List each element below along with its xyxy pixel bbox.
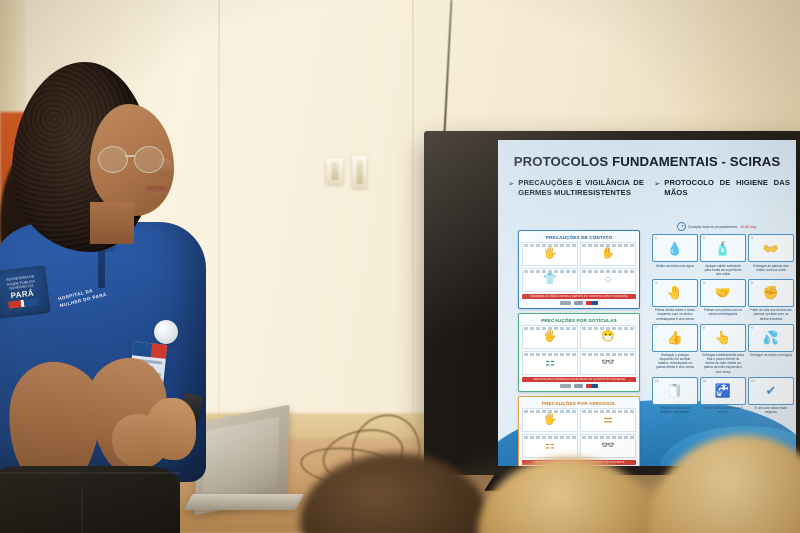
hand-hygiene-step: 8👆Esfregue rotativamente para trás e par… [701,324,745,374]
sespa-logo [574,384,583,388]
step-caption: Palma direita sobre o dorso esquerdo com… [653,308,697,320]
neck [90,202,134,244]
rub-palms-icon: 3👐 [748,234,794,262]
slide-bullet-item: ➢ PRECAUÇÕES E VIGILÂNCIA DE GERMES MULT… [508,178,644,198]
palm-over-dorsum-icon: 4🤚 [652,279,698,307]
back-of-fingers-icon: 6✊ [748,279,794,307]
poster-aerossol: PRECAUÇÕES POR AEROSSOL 🖐 ⚌ ⚏ 👓 USE MÁSC… [518,396,640,466]
close-tap-icon: 11🚰 [700,377,746,405]
gown-icon: 👕 [522,268,578,292]
wall-outlet[interactable] [326,158,343,184]
step-pictogram: 🧻 [667,384,683,397]
step-pictogram: 🚰 [715,384,731,397]
step-number: 4 [655,281,657,285]
step-pictogram: ✊ [763,286,779,299]
wet-hands-icon: 1💧 [652,234,698,262]
step-pictogram: 👐 [763,242,779,255]
hand-hygiene-step: 6✊Parte de trás dos dedos nas palmas opo… [749,279,793,321]
stethoscope-icon: ◌ [580,268,636,292]
step-number: 7 [655,326,657,330]
step-pictogram: 💧 [667,242,683,255]
glasses-lens-left [98,146,128,173]
n95-respirator-icon: ⚌ [580,408,636,432]
surgical-mask-icon: 😷 [580,325,636,349]
badge-reel [154,320,178,344]
hand-hygiene-step: 3👐Esfregue as palmas das mãos, uma na ou… [749,234,793,276]
step-pictogram: 💦 [763,331,779,344]
step-caption: Enxágue as mãos com água [749,353,793,362]
step-caption: Parte de trás dos dedos nas palmas opost… [749,308,793,320]
round-glasses [98,146,172,172]
step-caption: Palma com palma com os dedos entrelaçado… [701,308,745,317]
step-number: 5 [703,281,705,285]
step-pictogram: 🤝 [715,286,731,299]
step-number: 1 [655,236,657,240]
hand-hygiene-step: 12✔E as suas mãos estão seguras [749,377,793,416]
poster-logos [522,382,636,389]
step-pictogram: 🧴 [715,242,731,255]
clock-icon [677,222,686,231]
step-number: 2 [703,236,705,240]
step-number: 3 [751,236,753,240]
step-caption: Esfregue o polegar esquerdo em sentido r… [653,353,697,369]
hand-hygiene-step: 2🧴Aplique sabão suficiente para todas as… [701,234,745,276]
hand-hygiene-step: 5🤝Palma com palma com os dedos entrelaça… [701,279,745,321]
step-pictogram: 🤚 [667,286,683,299]
hand-hygiene-chart: Duração total do procedimento: 40-60 seg… [653,222,793,415]
poster-heading: PRECAUÇÕES POR GOTÍCULAS [522,317,636,325]
duration-value: 40-60 seg [740,225,756,229]
procedure-duration: Duração total do procedimento: 40-60 seg [653,222,793,231]
step-caption: Esfregue rotativamente para trás e para … [701,353,745,374]
poster-icon-grid: 🖐 ⚌ ⚏ 👓 [522,408,636,458]
poster-contato: PRECAUÇÕES DE CONTATO 🖐 ✋ 👕 ◌ HIGIENIZE … [518,230,640,309]
poster-footer-text: USE MÁSCARA CIRÚRGICA AO ENTRAR NO QUART… [533,378,625,381]
step-caption: Molhe as mãos com água [655,264,695,273]
bullet-arrow-icon: ➢ [654,178,660,188]
step-pictogram: 👍 [667,331,683,344]
hand-wash-icon: 🖐 [522,325,578,349]
poster-logos [522,299,636,306]
step-caption: Aplique sabão suficiente para todas as s… [701,264,745,276]
tv-screen: PROTOCOLOS FUNDAMENTAIS - SCIRAS ➢ PRECA… [498,140,796,466]
gloves-icon: ✋ [580,242,636,266]
presenter: SECRETARIA DE SAÚDE PÚBLICA GOVERNO DO P… [0,62,244,533]
step-caption: Use a toalha para fechar a torneira [701,406,745,415]
slide-bullet-text: PRECAUÇÕES E VIGILÂNCIA DE GERMES MULTIR… [518,178,644,198]
step-caption: Seque as mãos com toalhete descartável [653,406,697,415]
poster-heading: PRECAUÇÕES POR AEROSSOL [522,400,636,408]
step-caption: Esfregue as palmas das mãos, uma na outr… [749,264,793,273]
para-logo [586,301,598,305]
step-pictogram: ✔ [766,384,777,397]
hand-hygiene-step-grid: 1💧Molhe as mãos com água2🧴Aplique sabão … [653,234,793,415]
sespa-logo [574,301,583,305]
hand-hygiene-step: 4🤚Palma direita sobre o dorso esquerdo c… [653,279,697,321]
ministerio-saude-logo [560,301,571,305]
sleeve-patch-logo: SECRETARIA DE SAÚDE PÚBLICA GOVERNO DO P… [0,265,51,319]
duration-label: Duração total do procedimento: [688,225,738,229]
badge-header [132,341,167,358]
poster-icon-grid: 🖐 😷 ⚏ 👓 [522,325,636,375]
step-number: 9 [751,326,753,330]
bullet-arrow-icon: ➢ [508,178,514,188]
trousers [0,466,180,533]
hands-safe-icon: 12✔ [748,377,794,405]
step-number: 10 [655,379,659,383]
hand-hygiene-step: 9💦Enxágue as mãos com água [749,324,793,374]
hand-hygiene-step: 11🚰Use a toalha para fechar a torneira [701,377,745,416]
mask-icon: ⚏ [522,351,578,375]
fingertips-rotation-icon: 8👆 [700,324,746,352]
rinse-hands-icon: 9💦 [748,324,794,352]
mouth [146,186,168,194]
poster-icon-grid: 🖐 ✋ 👕 ◌ [522,242,636,292]
right-hand [146,398,196,460]
hand-hygiene-step: 1💧Molhe as mãos com água [653,234,697,276]
hand-wash-icon: 🖐 [522,408,578,432]
light-switch[interactable] [352,156,367,188]
slide-title: PROTOCOLOS FUNDAMENTAIS - SCIRAS [498,154,796,169]
mask-icon: ⚏ [522,434,578,458]
hand-hygiene-step: 7👍Esfregue o polegar esquerdo em sentido… [653,324,697,374]
poster-goticulas: PRECAUÇÕES POR GOTÍCULAS 🖐 😷 ⚏ 👓 USE MÁS… [518,313,640,392]
step-number: 8 [703,326,705,330]
step-number: 11 [703,379,707,383]
poster-footer-text: HIGIENIZE AS MÃOS ANTES E DEPOIS DO CONT… [530,295,627,298]
glasses-lens-right [134,146,164,173]
apply-soap-icon: 2🧴 [700,234,746,262]
para-logo [586,384,598,388]
dry-hands-icon: 10🧻 [652,377,698,405]
slide-bullet-list: ➢ PRECAUÇÕES E VIGILÂNCIA DE GERMES MULT… [508,178,790,198]
step-number: 12 [751,379,755,383]
goggles-icon: 👓 [580,434,636,458]
interlaced-fingers-icon: 5🤝 [700,279,746,307]
step-pictogram: 👆 [715,331,731,344]
hand-wash-icon: 🖐 [522,242,578,266]
step-number: 6 [751,281,753,285]
thumb-rotation-icon: 7👍 [652,324,698,352]
slide-bullet-item: ➢ PROTOCOLO DE HIGIENE DAS MÃOS [654,178,790,198]
slide-bullet-text: PROTOCOLO DE HIGIENE DAS MÃOS [664,178,790,198]
step-caption: E as suas mãos estão seguras [749,406,793,415]
hand-hygiene-step: 10🧻Seque as mãos com toalhete descartáve… [653,377,697,416]
television[interactable]: PROTOCOLOS FUNDAMENTAIS - SCIRAS ➢ PRECA… [424,131,800,475]
goggles-icon: 👓 [580,351,636,375]
presentation-photo-scene: PROTOCOLOS FUNDAMENTAIS - SCIRAS ➢ PRECA… [0,0,800,533]
ministerio-saude-logo [560,384,571,388]
poster-heading: PRECAUÇÕES DE CONTATO [522,234,636,242]
precaution-posters: PRECAUÇÕES DE CONTATO 🖐 ✋ 👕 ◌ HIGIENIZE … [518,230,640,466]
